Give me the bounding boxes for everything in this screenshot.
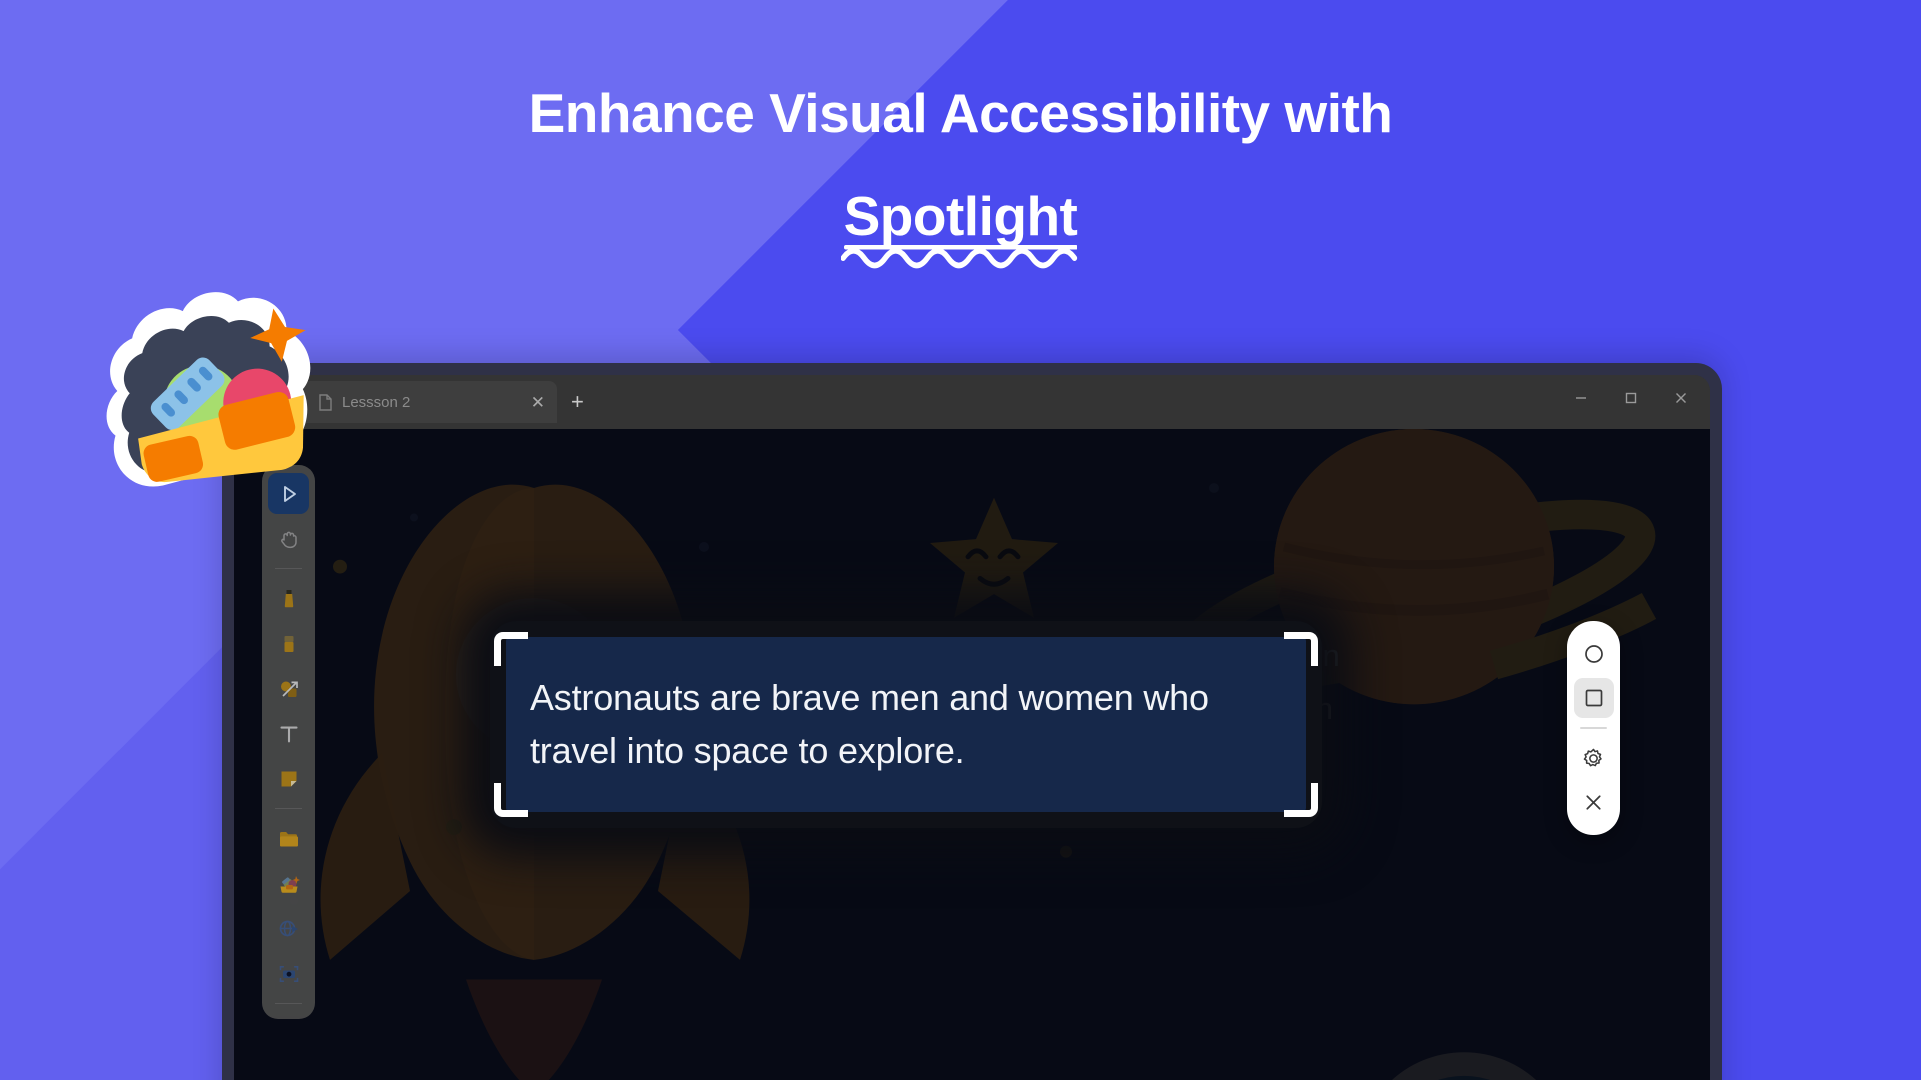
pen-tool[interactable] [268,578,309,619]
shapes-tool[interactable] [268,668,309,709]
spotlight-selection[interactable]: Astronauts are brave men and women who t… [506,637,1306,812]
spotlight-box: Astronauts are brave men and women who t… [506,637,1306,812]
minimize-button[interactable] [1556,375,1606,421]
spotlight-handle-bottom-left[interactable] [494,783,528,817]
new-tab-button[interactable]: + [571,391,584,413]
spotlight-circle-mode[interactable] [1574,634,1614,674]
page-title: Enhance Visual Accessibility with Spotli… [0,86,1921,244]
spotlight-settings[interactable] [1574,738,1614,778]
circle-icon [1582,642,1606,666]
square-icon [1582,686,1606,710]
spotlight-handle-top-left[interactable] [494,632,528,666]
tab-label: Lessson 2 [342,394,410,411]
globe-icon [277,917,301,941]
spotlight-text: Astronauts are brave men and women who t… [530,672,1282,776]
sticky-note-icon [277,767,301,791]
headline-line-2: Spotlight [844,185,1078,247]
screenshot-tool[interactable] [268,953,309,994]
spotlight-handle-bottom-right[interactable] [1284,783,1318,817]
headline-line-2-wrap: Spotlight [0,189,1921,244]
close-icon [1674,391,1688,405]
text-tool[interactable] [268,713,309,754]
close-window-button[interactable] [1656,375,1706,421]
toolbox-sticker [74,266,347,513]
highlighter-icon [277,632,301,656]
tool-rail[interactable] [262,465,315,1019]
toolbox-icon [277,872,301,896]
shapes-arrow-icon [277,677,301,701]
marker-pen-icon [277,587,301,611]
highlighter-tool[interactable] [268,623,309,664]
gear-icon [1582,747,1605,770]
browser-titlebar: ✕ Lessson 2 ✕ + [234,375,1710,429]
web-tool[interactable] [268,908,309,949]
lesson-canvas[interactable]: They train for many years to live and wo… [234,429,1710,1080]
text-t-icon [277,722,301,746]
spotlight-word-wrap: Spotlight [844,189,1078,244]
files-tool[interactable] [268,818,309,859]
rail-divider-1 [275,568,302,569]
folder-icon [277,827,301,851]
spotlight-handle-top-right[interactable] [1284,632,1318,666]
maximize-button[interactable] [1606,375,1656,421]
tab-lessson-2[interactable]: Lessson 2 ✕ [302,381,557,423]
spotlight-close[interactable] [1574,782,1614,822]
toolbox-tool[interactable] [268,863,309,904]
camera-icon [277,962,301,986]
hand-icon [277,527,301,551]
minimize-icon [1574,391,1588,405]
tab-close-icon[interactable]: ✕ [531,394,545,411]
laptop-frame: ✕ Lessson 2 ✕ + [222,363,1722,1080]
rail-divider-2 [275,808,302,809]
spotlight-toolbar-divider [1580,727,1607,729]
pan-tool[interactable] [268,518,309,559]
straight-underline-icon [844,244,1078,250]
laptop-screen: ✕ Lessson 2 ✕ + [234,375,1710,1080]
spotlight-rect-mode[interactable] [1574,678,1614,718]
maximize-icon [1624,391,1638,405]
close-icon [1582,791,1605,814]
sticky-note-tool[interactable] [268,758,309,799]
spotlight-toolbar[interactable] [1567,621,1620,835]
headline-line-1: Enhance Visual Accessibility with [529,82,1393,144]
rail-divider-3 [275,1003,302,1004]
window-controls [1556,375,1706,421]
